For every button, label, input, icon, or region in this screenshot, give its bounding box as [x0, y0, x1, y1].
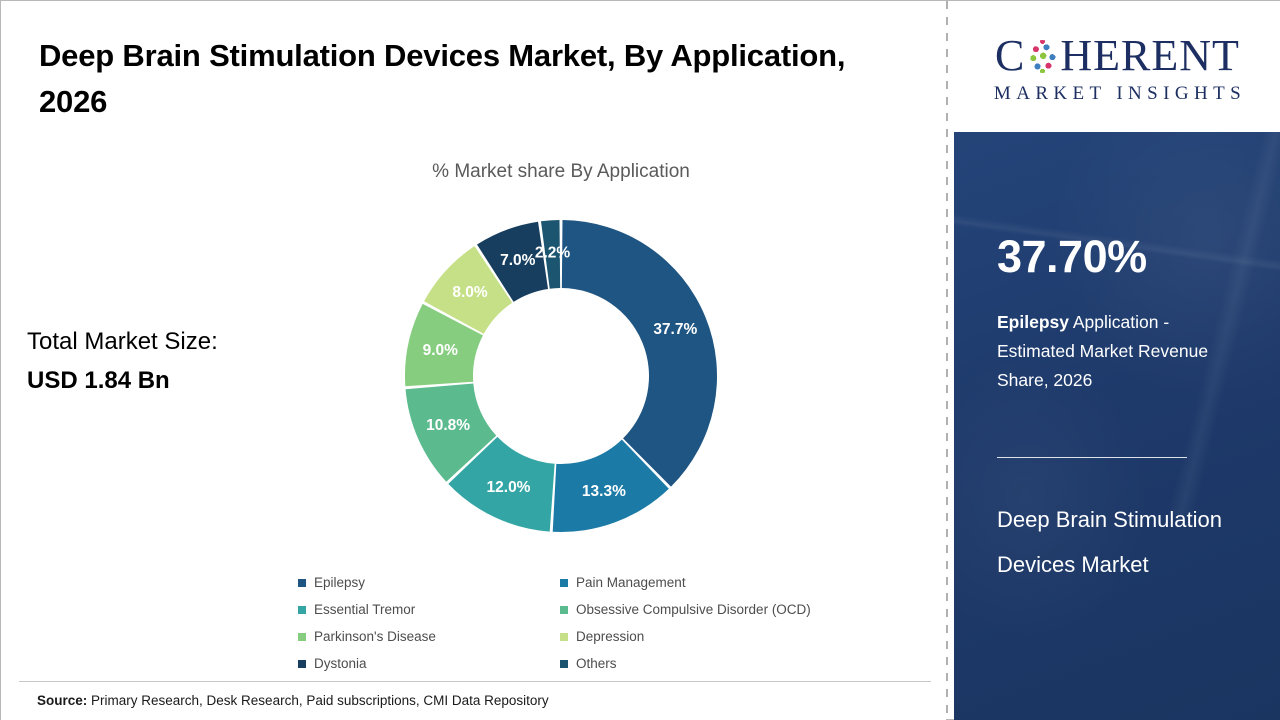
legend-label: Others: [576, 656, 617, 671]
legend-label: Parkinson's Disease: [314, 629, 436, 644]
legend-label: Obsessive Compulsive Disorder (OCD): [576, 602, 811, 617]
legend-label: Pain Management: [576, 575, 686, 590]
donut-slice-label: 9.0%: [423, 342, 459, 359]
donut-slices: [405, 220, 717, 532]
legend-swatch-icon: [560, 660, 568, 668]
legend-item[interactable]: Epilepsy: [298, 575, 560, 590]
legend-item[interactable]: Depression: [560, 629, 898, 644]
right-side-panel: C HERENT MARKET INSIGHTS 37.70% Epilepsy…: [954, 1, 1280, 720]
infographic-page: Deep Brain Stimulation Devices Market, B…: [0, 0, 1280, 720]
legend-item[interactable]: Others: [560, 656, 898, 671]
legend-swatch-icon: [298, 606, 306, 614]
total-market-size-value: USD 1.84 Bn: [27, 362, 297, 401]
panel-market-name: Deep Brain Stimulation Devices Market: [997, 497, 1257, 587]
legend-item[interactable]: Parkinson's Disease: [298, 629, 560, 644]
donut-chart: 37.7%13.3%12.0%10.8%9.0%8.0%7.0%2.2%: [401, 216, 721, 536]
legend-swatch-icon: [298, 660, 306, 668]
dotted-globe-icon: [1026, 40, 1059, 73]
chart-subtitle: % Market share By Application: [301, 161, 821, 183]
footer-divider: [19, 681, 931, 682]
source-label: Source:: [37, 693, 87, 708]
legend-label: Dystonia: [314, 656, 367, 671]
stat-description-strong: Epilepsy: [997, 312, 1069, 332]
donut-slice-label: 12.0%: [487, 479, 531, 496]
total-market-size-label: Total Market Size:: [27, 323, 297, 362]
legend-item[interactable]: Dystonia: [298, 656, 560, 671]
source-text: Primary Research, Desk Research, Paid su…: [87, 693, 548, 708]
vertical-dashed-divider: [946, 1, 948, 720]
donut-slice-label: 2.2%: [535, 244, 571, 261]
legend-label: Epilepsy: [314, 575, 365, 590]
stat-description: Epilepsy Application - Estimated Market …: [997, 308, 1242, 395]
donut-slice-label: 8.0%: [452, 284, 488, 301]
source-line: Source: Primary Research, Desk Research,…: [37, 693, 549, 708]
panel-divider: [997, 457, 1187, 458]
highlight-panel: 37.70% Epilepsy Application - Estimated …: [954, 132, 1280, 720]
donut-slice: [562, 220, 717, 487]
logo-letter-c: C: [995, 34, 1025, 78]
legend-swatch-icon: [298, 633, 306, 641]
donut-chart-svg: 37.7%13.3%12.0%10.8%9.0%8.0%7.0%2.2%: [401, 216, 721, 536]
logo-word-herent: HERENT: [1060, 34, 1240, 78]
legend-swatch-icon: [298, 579, 306, 587]
logo-subtitle: MARKET INSIGHTS: [989, 83, 1246, 105]
page-title: Deep Brain Stimulation Devices Market, B…: [39, 33, 869, 125]
legend-label: Depression: [576, 629, 644, 644]
legend-swatch-icon: [560, 633, 568, 641]
legend-swatch-icon: [560, 606, 568, 614]
donut-slice-label: 37.7%: [653, 321, 697, 338]
stat-value: 37.70%: [997, 234, 1147, 279]
logo-wordmark: C HERENT: [995, 34, 1240, 78]
left-content-panel: Deep Brain Stimulation Devices Market, B…: [1, 1, 946, 720]
donut-slice-label: 10.8%: [426, 417, 470, 434]
legend-label: Essential Tremor: [314, 602, 415, 617]
chart-legend: EpilepsyPain ManagementEssential TremorO…: [298, 569, 898, 677]
legend-item[interactable]: Pain Management: [560, 575, 898, 590]
total-market-size: Total Market Size: USD 1.84 Bn: [27, 323, 297, 401]
coherent-market-insights-logo: C HERENT MARKET INSIGHTS: [954, 7, 1280, 132]
donut-slice-label: 13.3%: [582, 483, 626, 500]
legend-swatch-icon: [560, 579, 568, 587]
legend-item[interactable]: Essential Tremor: [298, 602, 560, 617]
legend-item[interactable]: Obsessive Compulsive Disorder (OCD): [560, 602, 898, 617]
donut-slice-label: 7.0%: [500, 252, 536, 269]
donut-chart-area: % Market share By Application 37.7%13.3%…: [301, 151, 841, 551]
